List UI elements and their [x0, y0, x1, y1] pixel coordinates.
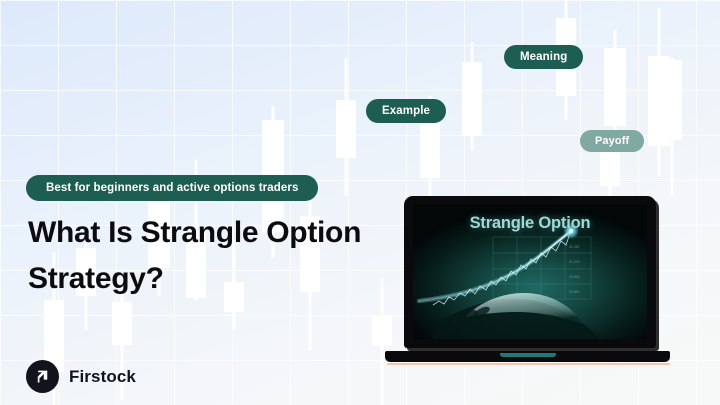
candle-wick [471, 42, 474, 150]
svg-text:20,950: 20,950 [569, 275, 579, 279]
brand-name: Firstock [69, 367, 136, 387]
topic-pill-payoff[interactable]: Payoff [580, 130, 644, 152]
laptop-lid: Strangle Option [404, 196, 656, 348]
tagline-badge: Best for beginners and active options tr… [26, 175, 318, 201]
laptop-hinge-notch [500, 353, 556, 357]
candle-wick [671, 58, 674, 196]
candle-body [604, 48, 626, 126]
page-title: What Is Strangle Option Strategy? [28, 210, 388, 301]
candle-wick [658, 8, 661, 176]
laptop-mockup: Strangle Option [385, 196, 675, 368]
background-candle [604, 30, 626, 175]
candle-wick [614, 30, 617, 175]
background-candle [662, 58, 682, 196]
laptop-base [385, 351, 670, 362]
svg-text:20,800: 20,800 [569, 290, 579, 294]
candle-body [648, 56, 670, 146]
candle-body [112, 302, 132, 345]
svg-text:21,250: 21,250 [569, 245, 579, 249]
laptop-shadow-line [387, 363, 670, 365]
background-candle [336, 58, 356, 196]
brand-logo[interactable]: Firstock [26, 360, 136, 393]
topic-pill-example[interactable]: Example [366, 99, 446, 123]
candle-wick [345, 58, 348, 196]
candle-body [662, 60, 682, 140]
laptop-screen: Strangle Option [413, 205, 647, 339]
background-candle [462, 42, 482, 150]
candle-body [336, 100, 356, 158]
background-candle [648, 8, 670, 176]
svg-text:21,100: 21,100 [569, 260, 579, 264]
candle-body [600, 146, 620, 186]
candle-body [462, 62, 482, 136]
topic-pill-meaning[interactable]: Meaning [504, 45, 583, 69]
hand-holding-rising-chart-illustration: 21,250 21,100 20,950 20,800 [413, 205, 647, 339]
arrow-up-right-flag-icon [26, 360, 59, 393]
poster-canvas: Meaning Example Payoff Best for beginner… [0, 0, 720, 405]
